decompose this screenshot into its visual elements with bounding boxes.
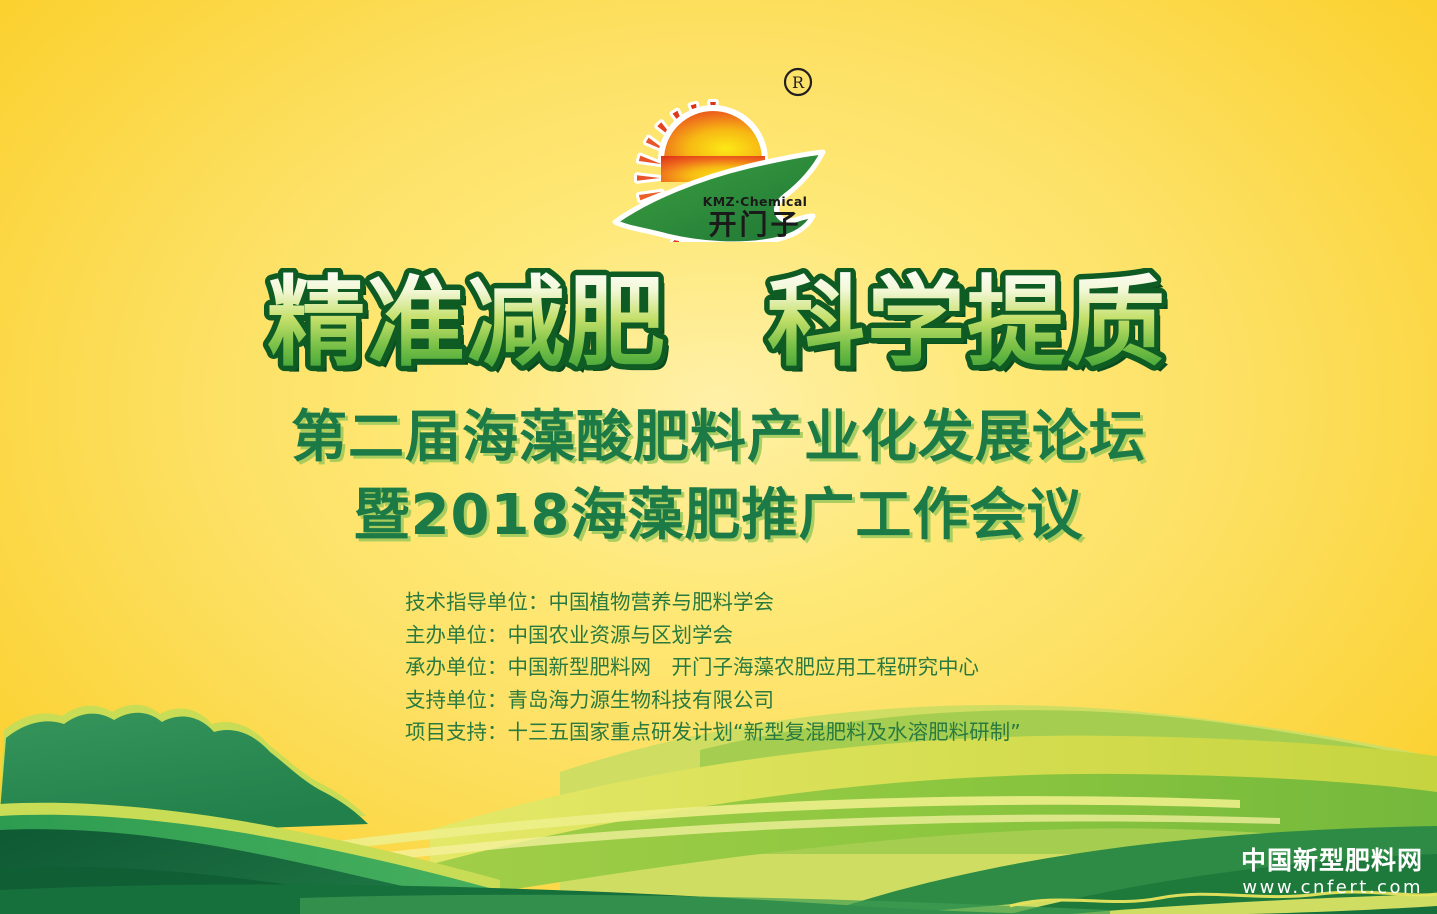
organizer-credits-block: 技术指导单位：中国植物营养与肥料学会 主办单位：中国农业资源与区划学会 承办单位…: [405, 586, 1165, 749]
watermark-site-url: www.cnfert.com: [1241, 876, 1423, 900]
svg-text:R: R: [791, 73, 804, 92]
kmz-chemical-logo-icon: R KMZ·Chemical 开门子: [609, 56, 829, 242]
conference-title-line-2: 暨2018海藻肥推广工作会议: [0, 482, 1437, 550]
credit-line-technical-guidance: 技术指导单位：中国植物营养与肥料学会: [405, 586, 1165, 619]
credit-line-organizer: 承办单位：中国新型肥料网 开门子海藻农肥应用工程研究中心: [405, 651, 1165, 684]
headline-text: 精准减肥 科学提质: [266, 268, 1166, 380]
conference-poster: R KMZ·Chemical 开门子 精准减肥 科学提质 精准减肥: [0, 0, 1437, 914]
credit-line-supporter: 支持单位：青岛海力源生物科技有限公司: [405, 684, 1165, 717]
brand-logo: R KMZ·Chemical 开门子: [0, 56, 1437, 242]
credit-line-host: 主办单位：中国农业资源与区划学会: [405, 619, 1165, 652]
poster-headline: 精准减肥 科学提质 精准减肥 科学提质 精准减肥 科学提质: [0, 268, 1437, 388]
logo-brand-en: KMZ·Chemical: [702, 194, 807, 209]
credit-line-project-support: 项目支持：十三五国家重点研发计划“新型复混肥料及水溶肥料研制”: [405, 716, 1165, 749]
registered-trademark-icon: R: [785, 69, 811, 95]
conference-title-line-1: 第二届海藻酸肥料产业化发展论坛: [0, 404, 1437, 472]
site-watermark: 中国新型肥料网 www.cnfert.com: [1241, 846, 1423, 900]
watermark-site-name: 中国新型肥料网: [1241, 846, 1423, 876]
logo-brand-cn: 开门子: [708, 208, 801, 241]
headline-gradient-text: 精准减肥 科学提质 精准减肥 科学提质 精准减肥 科学提质: [189, 268, 1249, 386]
